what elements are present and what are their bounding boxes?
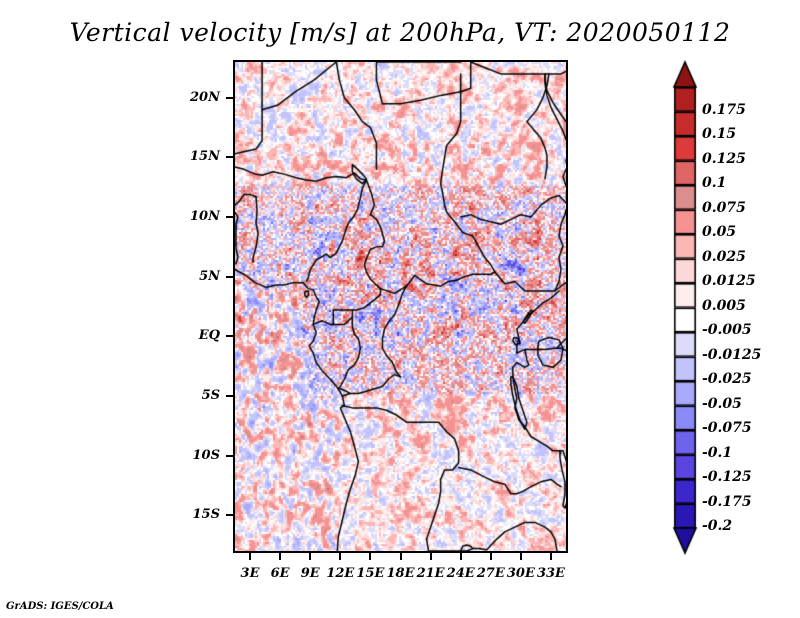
x-tick-mark [430,553,432,560]
y-tick-mark [226,276,233,278]
colorbar-tick-label: 0.075 [702,201,746,215]
x-tick-mark [520,553,522,560]
colorbar-tick-label: 0.15 [702,127,736,141]
colorbar-tick-label: 0.025 [702,250,746,264]
colorbar-tick-label: 0.1 [702,176,726,190]
x-tick-mark [490,553,492,560]
x-tick-mark [339,553,341,560]
colorbar-tick-label: -0.1 [702,446,732,460]
y-tick-label: 10S [193,448,220,463]
x-tick-mark [279,553,281,560]
y-tick-label: 5N [199,269,220,284]
y-tick-mark [226,514,233,516]
colorbar-tick-label: 0.175 [702,103,746,117]
y-tick-mark [226,156,233,158]
colorbar-tick-label: -0.2 [702,519,732,533]
page-title: Vertical velocity [m/s] at 200hPa, VT: 2… [0,18,800,47]
x-tick-mark [249,553,251,560]
x-tick-label: 33E [537,566,565,581]
colorbar-tick-label: -0.025 [702,372,752,386]
colorbar-tick-label: -0.125 [702,470,752,484]
y-tick-mark [226,395,233,397]
y-tick-label: 5S [202,388,220,403]
y-tick-label: 15N [190,149,220,164]
grads-plot-window: Vertical velocity [m/s] at 200hPa, VT: 2… [0,0,800,618]
y-tick-label: EQ [199,328,220,343]
colorbar[interactable]: 0.1750.150.1250.10.0750.050.0250.01250.0… [672,60,792,555]
colorbar-tick-label: -0.075 [702,421,752,435]
country-borders-overlay [235,62,566,551]
x-tick-mark [369,553,371,560]
colorbar-tick-label: 0.125 [702,152,746,166]
x-tick-label-wrap: 33E [521,562,581,581]
y-tick-label: 10N [190,209,220,224]
colorbar-tick-label: -0.005 [702,323,752,337]
colorbar-tick-label: -0.175 [702,495,752,509]
colorbar-tick-label: 0.05 [702,225,736,239]
y-tick-mark [226,216,233,218]
y-tick-mark [226,455,233,457]
colorbar-tick-label: -0.0125 [702,348,761,362]
y-tick-mark [226,335,233,337]
colorbar-tick-label: 0.005 [702,299,746,313]
y-tick-label: 20N [190,90,220,105]
x-tick-mark [460,553,462,560]
map-plot-area[interactable] [233,60,568,553]
y-tick-mark [226,97,233,99]
colorbar-tick-label: -0.05 [702,397,742,411]
colorbar-tick-label: 0.0125 [702,274,756,288]
x-tick-mark [309,553,311,560]
x-tick-mark [400,553,402,560]
x-tick-mark [550,553,552,560]
grads-attribution: GrADS: IGES/COLA [6,601,114,612]
y-tick-label: 15S [193,507,220,522]
colorbar-gradient [672,60,702,555]
